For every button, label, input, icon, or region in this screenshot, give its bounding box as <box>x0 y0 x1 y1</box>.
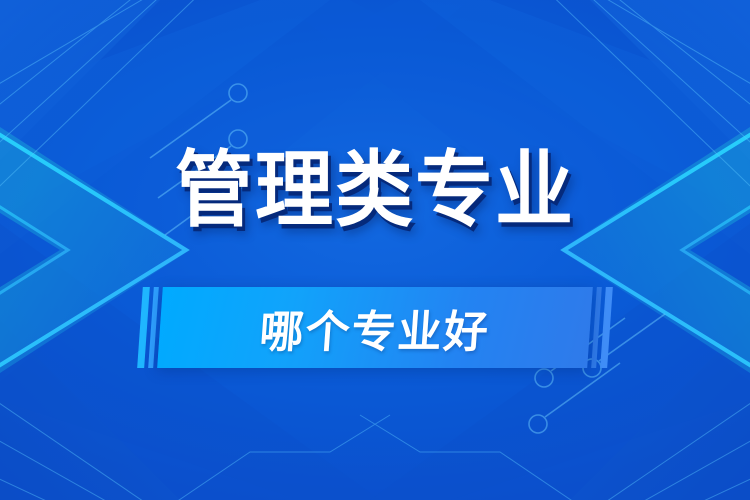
poster-subtitle: 哪个专业好 <box>157 287 593 368</box>
page-title: 管理类专业 <box>175 150 575 233</box>
chevron-shape-right <box>440 0 750 500</box>
chevron-shape-left <box>0 0 310 500</box>
promo-banner: 管理类专业 哪个专业好 <box>0 0 750 500</box>
subtitle-banner: 哪个专业好 <box>160 287 590 368</box>
poster-title-wrapper: 管理类专业 <box>0 152 750 230</box>
